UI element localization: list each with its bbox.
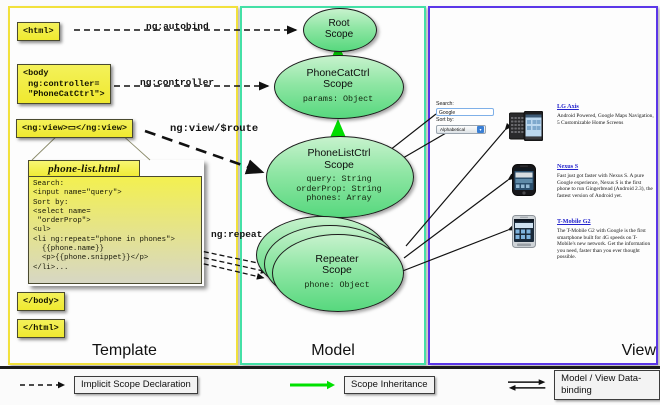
edge-label-repeat: ng:repeat (211, 229, 262, 240)
scope-title-line2: Scope (325, 29, 353, 41)
legend-item-scope-inheritance: Scope Inheritance (290, 376, 435, 394)
scope-repeater: Repeater Scope phone: Object (272, 234, 402, 310)
scope-title-line1: Root (328, 18, 349, 30)
phone-listing-1: Nexus S Fast just got faster with Nexus … (557, 163, 655, 199)
scope-phonelistctrl: PhoneListCtrl Scope query: String orderP… (266, 136, 412, 216)
search-label: Search: (436, 101, 498, 108)
phone-snippet: Fast just got faster with Nexus S. A pur… (557, 173, 655, 199)
scope-title-line2: Scope (324, 160, 354, 172)
phone-listing-0: LG Axis Android Powered, Google Maps Nav… (557, 103, 655, 126)
legend-label: Model / View Data-binding (554, 370, 660, 400)
scope-title-line2: Scope (323, 79, 353, 91)
phone-name-link[interactable]: Nexus S (557, 163, 655, 170)
phone-thumbnail-1 (512, 164, 536, 196)
column-view-label: View (430, 342, 660, 360)
diagram-canvas: Template Model View (0, 0, 660, 405)
phone-thumbnail-2 (512, 215, 536, 248)
green-arrow-icon (290, 380, 336, 390)
edge-label-controller: ng:controller (140, 77, 214, 88)
sort-label: Sort by: (436, 117, 498, 124)
phone-name-link[interactable]: T-Mobile G2 (557, 218, 655, 225)
html-open-tag: <html> (17, 22, 60, 41)
double-arrow-icon (508, 377, 546, 393)
body-close-tag: </body> (17, 292, 65, 311)
html-close-tag: </html> (17, 319, 65, 338)
phone-name-link[interactable]: LG Axis (557, 103, 655, 110)
sort-select[interactable]: Alphabetical ▾ (436, 125, 486, 134)
legend: Implicit Scope Declaration Scope Inherit… (0, 366, 660, 405)
scope-root: Root Scope (303, 8, 375, 50)
scope-properties: params: Object (303, 95, 373, 105)
legend-item-model-view-data-binding: Model / View Data-binding (508, 376, 660, 394)
search-input[interactable]: Google (436, 108, 494, 116)
scope-title-line2: Scope (322, 265, 352, 277)
legend-item-implicit-scope-declaration: Implicit Scope Declaration (20, 376, 198, 394)
phone-thumbnail-0 (509, 111, 543, 141)
phone-snippet: Android Powered, Google Maps Navigation,… (557, 113, 655, 126)
scope-phonecatctrl: PhoneCatCtrl Scope params: Object (274, 55, 402, 117)
sort-select-value: Alphabetical (440, 127, 465, 132)
phone-snippet: The T-Mobile G2 with Google is the first… (557, 228, 655, 261)
dashed-arrow-icon (20, 380, 66, 390)
phone-listing-2: T-Mobile G2 The T-Mobile G2 with Google … (557, 218, 655, 261)
edge-label-ngview-route: ng:view/$route (170, 123, 258, 135)
scope-properties: phone: Object (304, 281, 369, 291)
scope-title-line1: PhoneListCtrl (307, 148, 370, 160)
column-model-label: Model (242, 342, 424, 360)
legend-label: Implicit Scope Declaration (74, 376, 198, 394)
view-search-form: Search: Google Sort by: Alphabetical ▾ (436, 101, 498, 134)
chevron-down-icon: ▾ (477, 126, 484, 133)
legend-divider (0, 366, 660, 369)
partial-template-code: Search: <input name="query"> Sort by: <s… (28, 176, 202, 284)
scope-properties: query: String orderProp: String phones: … (296, 175, 381, 204)
edge-label-autobind: ng:autobind (146, 21, 209, 32)
ng-view-tag: <ng:view>▭</ng:view> (16, 119, 133, 138)
partial-template-note: phone-list.html Search: <input name="que… (28, 160, 204, 286)
body-open-tag: <body ng:controller= "PhoneCatCtrl"> (17, 64, 111, 104)
legend-label: Scope Inheritance (344, 376, 435, 394)
